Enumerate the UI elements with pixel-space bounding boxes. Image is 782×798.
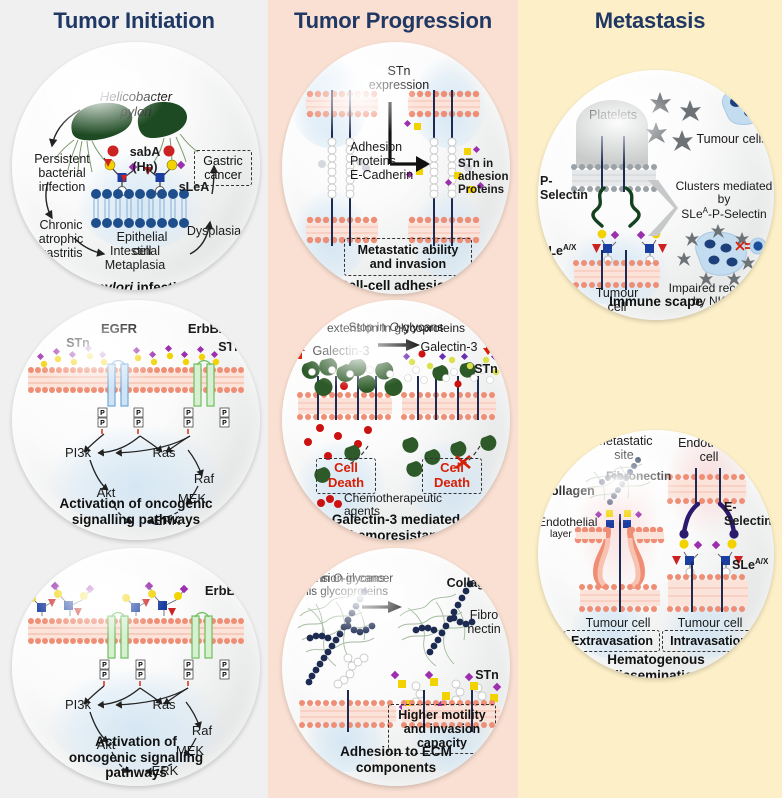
panel-caption-galectin: Galectin-3 mediated Chemoresistance [282,512,510,540]
galectin3-label-right: Galectin-3 [412,340,486,354]
stn-label-galectin: STn [468,362,504,376]
panel-adhesion-ecm: Stop in O-glycans extension in cancer ce… [282,548,510,786]
sleax-base: SLe [540,244,563,258]
organism-name-line1: Helicobacter [66,90,206,105]
dysplasia-label: Dysplasia [178,224,250,238]
galectin3-left-icons [294,352,400,396]
extravasation-box: Extravasation [564,630,660,652]
panel-caption-ecm: Adhesion to ECM components [282,744,510,775]
endothelial-layer-label-1: Endothelial [538,516,598,529]
sabA-label: sabA [118,145,172,159]
tumour-cells-label: Tumour cells [686,132,774,146]
column-title-progression: Tumor Progression [268,8,518,34]
tumour-cell-label-extrav: Tumour cell [570,616,666,630]
stop-glycans-text-2: extension in glycoproteins [296,322,496,335]
ras-label: Ras [144,446,184,461]
organism-name-line2: pylori [66,105,206,120]
endothelial-cell-label: Endothelial cell [668,436,750,464]
intravasation-box: Intravasation [662,630,756,652]
hp-label: (Hp) [118,160,172,174]
pi3k-label-p3: PI3k [58,698,98,713]
sleax-base-meta: SLe [732,558,755,572]
collagen-label-meta: Collagen [542,484,602,498]
ecm-fibronectin-collagen-left [292,588,404,704]
clusters-sle: SLe [681,207,702,221]
panel-caption-cell-adhesion: Cell-cell adhesion [282,278,510,294]
panel-caption-oncogenic-1: Activation of oncogenic signalling pathw… [12,496,260,527]
clusters-rest: -P-Selectin [708,207,767,221]
chemo-agent-dots [316,494,346,510]
cell-death-box-right: Cell Death [422,458,482,494]
galectin3-label-left: Galectin-3 [304,344,378,358]
arrow-down-icon [482,340,494,356]
nk-cells-blocked [736,236,774,284]
sleax-sup-meta: A/X [755,557,768,566]
column-title-metastasis: Metastasis [518,8,782,34]
arrow-up-icon [294,344,306,360]
panel-caption-h-pylori: H. pylori infection [12,264,260,290]
stn-in-adhesion-label: STn in adhesion Proteins [458,158,510,197]
sleax-label-immune: SLeA/X [540,230,596,258]
gastric-cancer-box: Gastric cancer [194,150,252,186]
e-selectin-label: E- Selectin [724,500,774,528]
erbb2-label-panel3: ErbB2 [194,584,254,599]
clusters-mediated-line2: SLeA-P-Selectin [672,194,774,222]
fibronectin-label-ecm: Fibro nectin [458,608,510,636]
panel-cell-cell-adhesion: STn expression Adhesion Proteins E-Cadhe… [282,42,510,294]
panel-caption-immune-scape: Immune scape [538,294,774,310]
endothelial-layer-label-2: layer [550,529,590,540]
tumour-cells-blob [714,86,770,130]
persistent-infection-label: Persistent bacterial infection [20,152,104,194]
stn-label-ecm: STn [468,668,506,682]
stn-label-left: STn [56,336,100,350]
sleax-superscript: A/X [563,243,576,252]
tumour-cell-membrane-intrav [666,572,750,614]
panel-caption-hematogenous: Hematogenous dissemination [538,652,774,678]
pi3k-label: PI3k [58,446,98,461]
stn-expression-label: STn expression [364,64,434,92]
figure-root: Tumor Initiation Tumor Progression Metas… [0,0,782,798]
p-selectin-label: P- Selectin [540,174,590,202]
tumour-cell-membrane-extrav [578,582,662,614]
panel-caption-oncogenic-2: Activation of oncogenic signalling pathw… [12,734,260,781]
ras-label-p3: Ras [144,698,184,713]
chronic-gastritis-label: Chronic atrophic gastritis [24,218,98,260]
adhesion-proteins-label: Adhesion Proteins E-Cadherin [350,140,434,182]
panel-oncogenic-signalling-egfr: P P P P P P P P [12,300,260,540]
membrane-ecm-left [298,698,398,730]
caption-rest: infection [133,280,193,290]
fibronectin-label-meta: Fibronectin [606,470,676,483]
egfr-label: EGFR [86,322,152,337]
metastatic-ability-box: Metastatic ability and invasion [344,238,472,276]
platelets-label: Platelets [576,108,650,122]
stn-label-right: STn [208,340,252,354]
panel-galectin3-chemoresistance: Stop in O-glycans extension in glycoprot… [282,300,510,540]
column-title-initiation: Tumor Initiation [0,8,268,34]
panel-h-pylori-infection: Helicobacter pylori sabA (Hp) sLeA Epith… [12,42,260,290]
panel-hematogenous-dissemination: Metastatic site Endothelial cell Fibrone… [538,430,774,678]
panel-oncogenic-signalling-erbb2: P P P P P P P P [12,548,260,786]
erbb2-label: ErbB2 [174,322,240,337]
caption-italic: H. pylori [79,280,133,290]
cell-death-box-left: Cell Death [316,458,376,494]
collagen-label-ecm: Collagen [440,576,506,590]
sleax-label-meta: SLeA/X [732,544,774,572]
panel-immune-scape: Platelets Tumour cells P- Selectin SLeA/… [538,70,774,320]
tumour-cell-label-intrav: Tumour cell [662,616,758,630]
metastatic-site-label: Metastatic site [582,434,666,462]
raf-label: Raf [184,472,224,487]
